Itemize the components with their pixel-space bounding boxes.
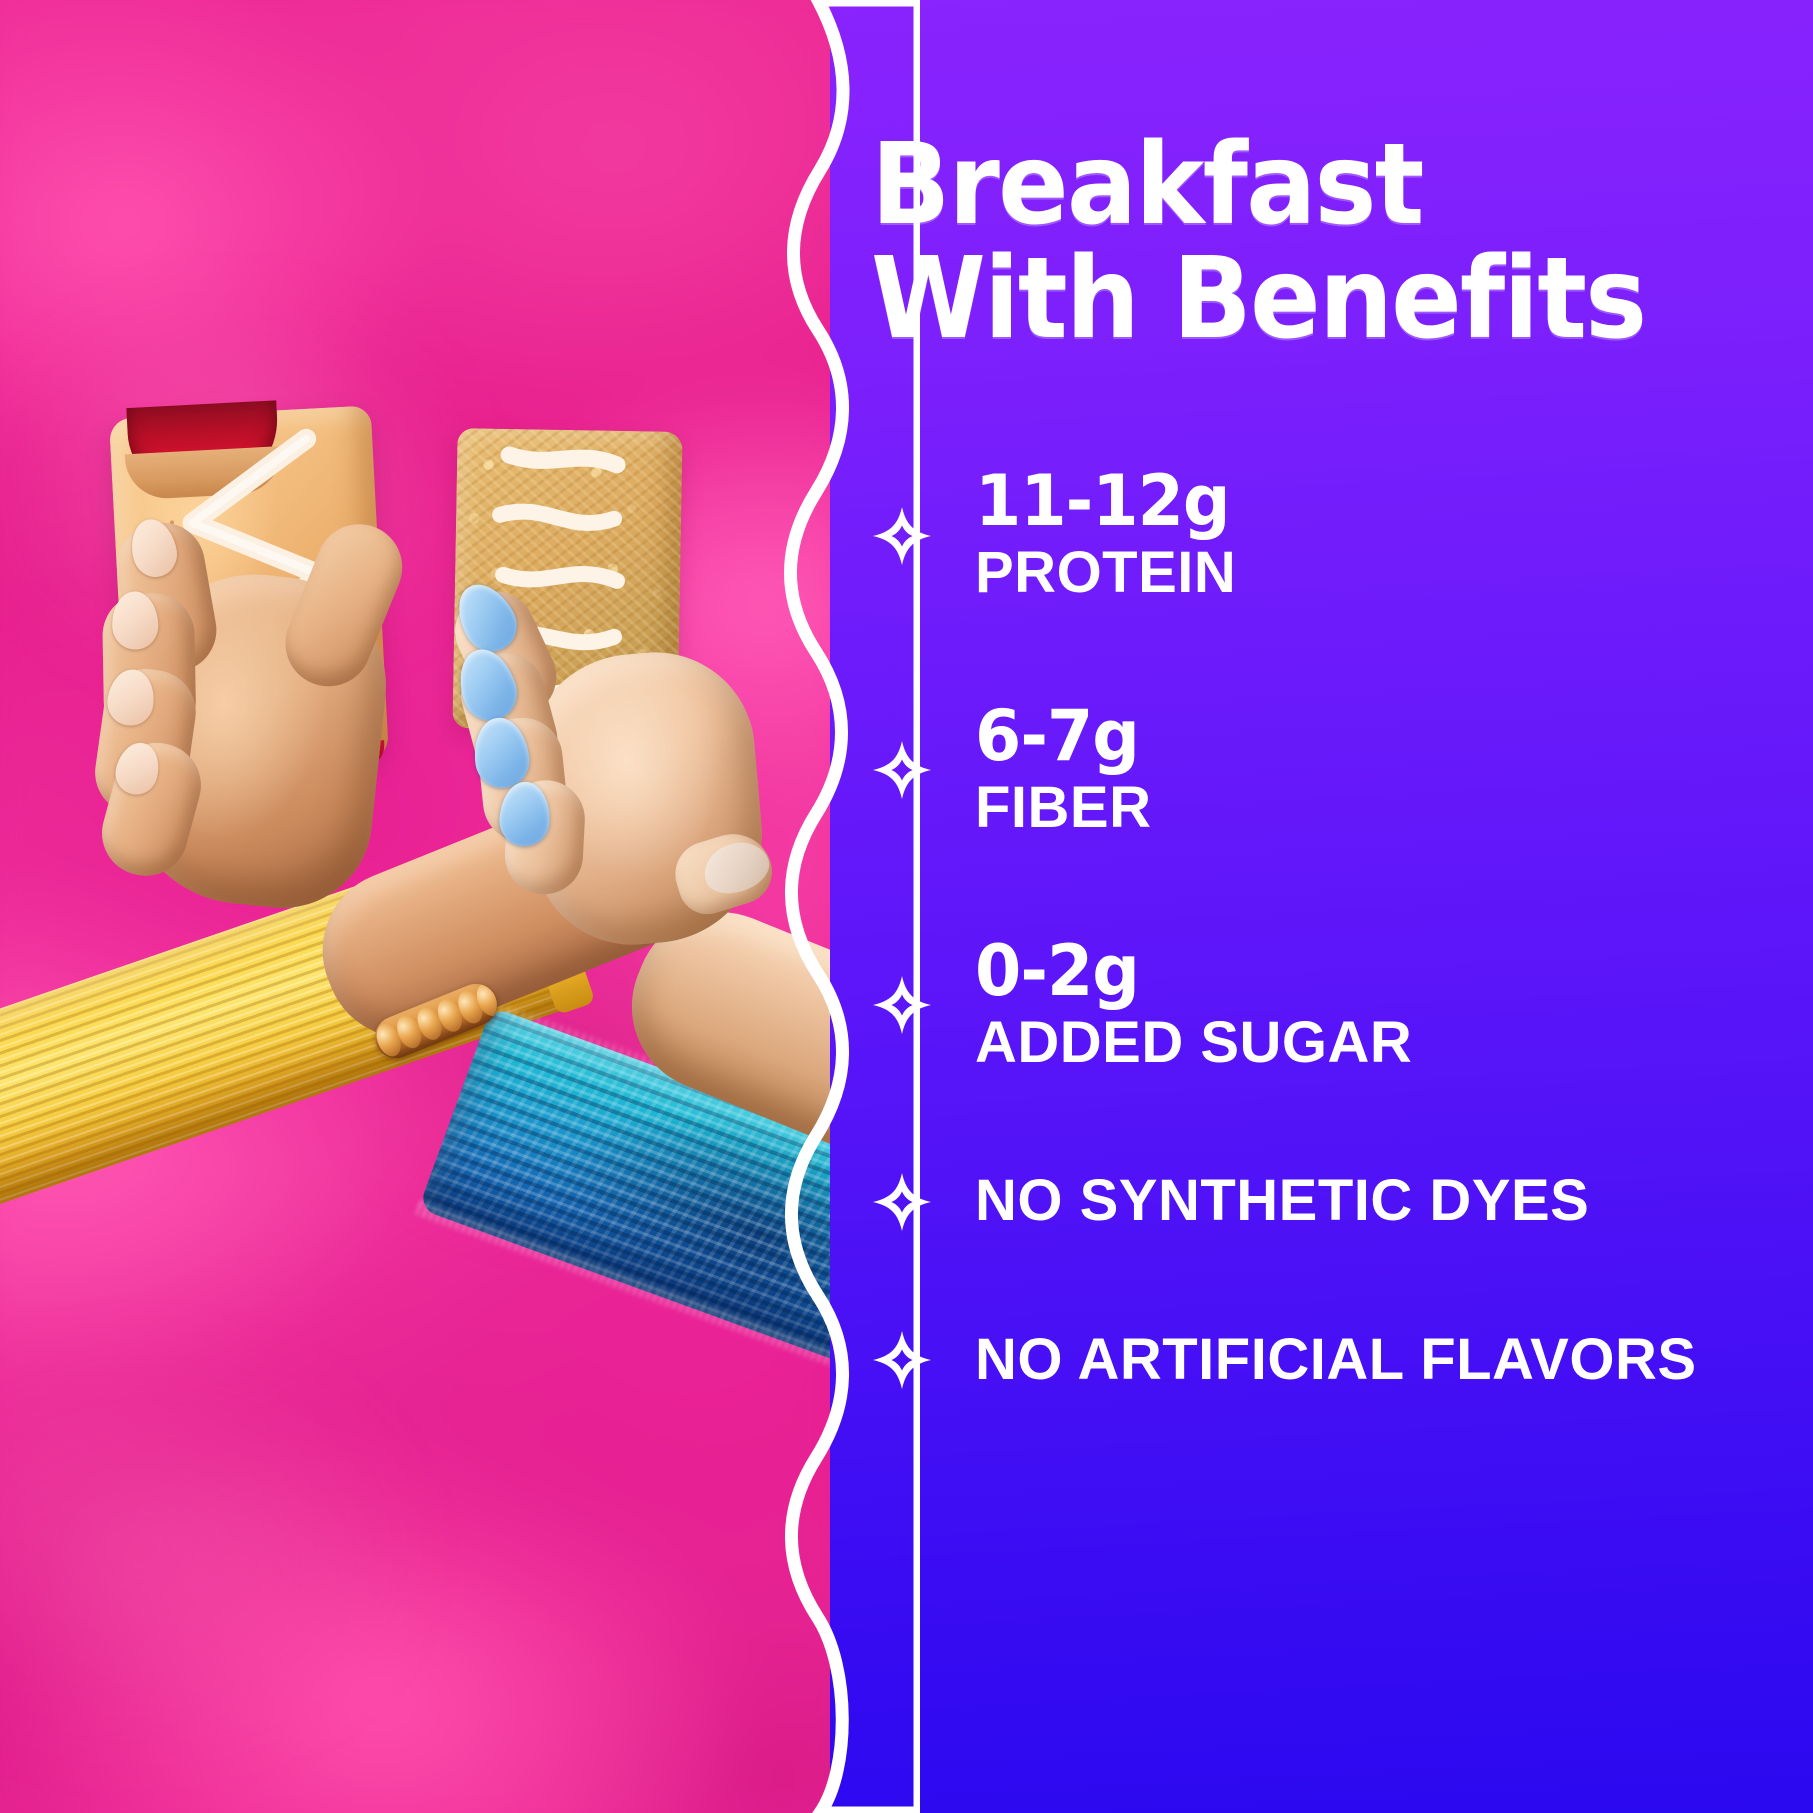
sparkle-icon: [871, 974, 933, 1036]
benefit-label: NO ARTIFICIAL FLAVORS: [975, 1329, 1697, 1392]
teal-sleeve-fuzz-bottom: [416, 1200, 830, 1482]
benefit-label: PROTEIN: [975, 542, 1243, 605]
benefit-label: ADDED SUGAR: [975, 1012, 1412, 1075]
benefit-value: 0-2g: [975, 936, 1390, 1006]
sparkle-icon: [871, 739, 933, 801]
benefit-item-protein: 11-12g PROTEIN: [871, 466, 1753, 605]
benefit-label: FIBER: [975, 777, 1152, 840]
benefit-item-no-synthetic-dyes: NO SYNTHETIC DYES: [871, 1170, 1753, 1233]
product-photo-panel: [0, 0, 830, 1813]
benefit-text: 6-7g FIBER: [975, 701, 1152, 840]
headline-line-1: Breakfast: [871, 120, 1423, 250]
benefit-value: 6-7g: [975, 701, 1143, 771]
right-hand: [447, 532, 802, 978]
benefits-list: 11-12g PROTEIN 6-7g FIBER: [871, 466, 1753, 1391]
benefit-text: NO SYNTHETIC DYES: [975, 1170, 1589, 1233]
benefit-item-fiber: 6-7g FIBER: [871, 701, 1753, 840]
sparkle-icon: [871, 1329, 933, 1391]
benefit-label: NO SYNTHETIC DYES: [975, 1170, 1589, 1233]
benefit-text: 11-12g PROTEIN: [975, 466, 1243, 605]
benefit-value: 11-12g: [975, 466, 1230, 536]
ad-canvas: Breakfast With Benefits 11-12g PROTEIN: [0, 0, 1813, 1813]
left-hand: [71, 439, 449, 951]
benefit-text: NO ARTIFICIAL FLAVORS: [975, 1329, 1697, 1392]
benefit-text: 0-2g ADDED SUGAR: [975, 936, 1412, 1075]
sparkle-icon: [871, 1171, 933, 1233]
page-title: Breakfast With Benefits: [871, 128, 1691, 356]
benefits-content: Breakfast With Benefits 11-12g PROTEIN: [813, 0, 1813, 1813]
benefit-item-no-artificial-flavors: NO ARTIFICIAL FLAVORS: [871, 1329, 1753, 1392]
headline-line-2: With Benefits: [871, 242, 1691, 356]
benefit-item-added-sugar: 0-2g ADDED SUGAR: [871, 936, 1753, 1075]
photo-composition: [0, 0, 830, 1813]
sparkle-icon: [871, 505, 933, 567]
